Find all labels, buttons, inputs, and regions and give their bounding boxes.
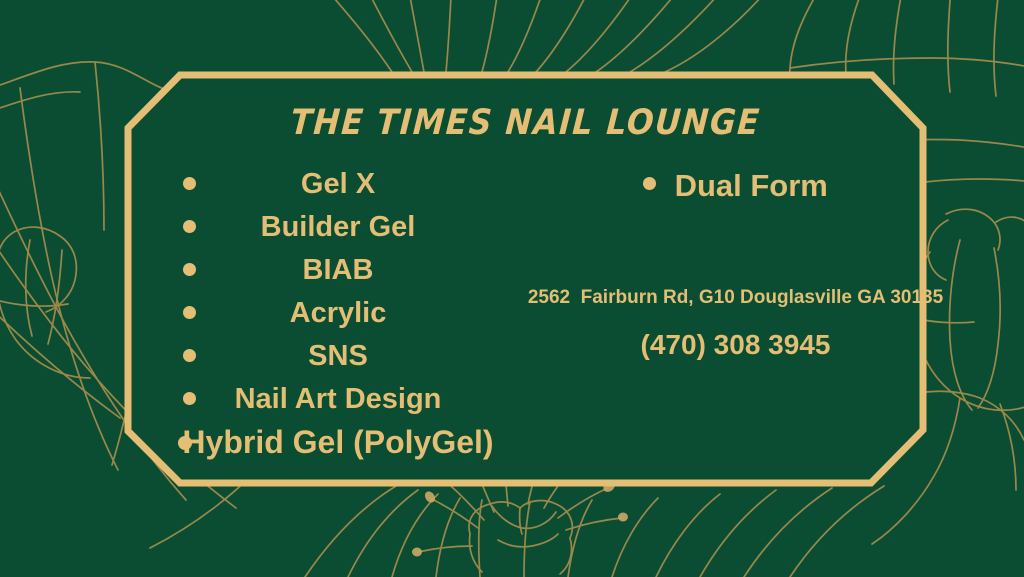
service-label: SNS [128, 335, 548, 378]
phone-number[interactable]: (470) 308 3945 [508, 329, 963, 361]
address-text: 2562 Fairburn Rd, G10 Douglasville GA 30… [468, 287, 1003, 309]
business-card: THE TIMES NAIL LOUNGE Gel X Builder Gel … [0, 0, 1024, 577]
services-right-column: Dual Form 2562 Fairburn Rd, G10 Douglasv… [548, 75, 923, 484]
service-label: Gel X [128, 163, 548, 206]
list-item[interactable]: Builder Gel [128, 206, 548, 249]
list-item[interactable]: Gel X [128, 163, 548, 206]
service-label: Nail Art Design [128, 378, 548, 421]
list-item[interactable]: Nail Art Design [128, 378, 548, 421]
service-label: Dual Form [675, 168, 828, 204]
service-label: BIAB [128, 249, 548, 292]
card-content: THE TIMES NAIL LOUNGE Gel X Builder Gel … [128, 75, 923, 484]
services-left-column: Gel X Builder Gel BIAB Acrylic SNS Nail … [128, 163, 548, 464]
list-item[interactable]: Hybrid Gel (PolyGel) [128, 421, 548, 464]
service-label: Builder Gel [128, 206, 548, 249]
list-item[interactable]: SNS [128, 335, 548, 378]
bullet-dot-icon [643, 177, 656, 190]
list-item[interactable]: BIAB [128, 249, 548, 292]
service-label: Hybrid Gel (PolyGel) [128, 421, 548, 464]
list-item[interactable]: Dual Form [548, 168, 923, 204]
